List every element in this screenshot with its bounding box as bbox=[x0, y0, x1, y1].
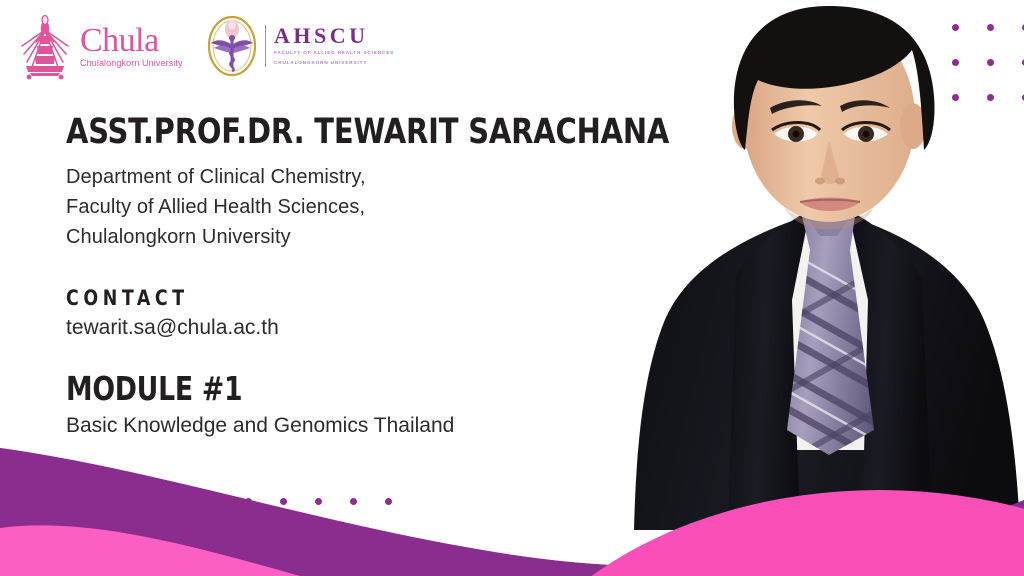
speaker-affiliation: Department of Clinical Chemistry, Facult… bbox=[66, 162, 666, 252]
module-heading: MODULE #1 bbox=[66, 369, 606, 408]
contact-label: CONTACT bbox=[66, 286, 618, 310]
dot-grid-bottom-left bbox=[70, 498, 420, 576]
decorative-dot bbox=[140, 568, 147, 575]
affiliation-line: Faculty of Allied Health Sciences, bbox=[66, 192, 666, 222]
decorative-dot bbox=[350, 533, 357, 540]
chula-logo: Chula Chulalongkorn University bbox=[16, 12, 188, 80]
ahscu-subtitle-line2: CHULALONGKORN UNIVERSITY bbox=[274, 60, 394, 67]
decorative-dot bbox=[385, 568, 392, 575]
decorative-dot bbox=[175, 533, 182, 540]
decorative-dot bbox=[140, 498, 147, 505]
affiliation-line: Department of Clinical Chemistry, bbox=[66, 162, 666, 192]
decorative-dot bbox=[175, 498, 182, 505]
decorative-dot bbox=[70, 533, 77, 540]
decorative-dot bbox=[245, 498, 252, 505]
contact-email[interactable]: tewarit.sa@chula.ac.th bbox=[66, 313, 666, 343]
speaker-info-block: ASST.PROF.DR. TEWARIT SARACHANA Departme… bbox=[66, 112, 666, 441]
decorative-dot bbox=[210, 568, 217, 575]
decorative-dot bbox=[245, 533, 252, 540]
decorative-dot bbox=[385, 533, 392, 540]
decorative-dot bbox=[315, 533, 322, 540]
decorative-dot bbox=[350, 498, 357, 505]
affiliation-line: Chulalongkorn University bbox=[66, 222, 666, 252]
chula-subtitle: Chulalongkorn University bbox=[80, 59, 183, 69]
decorative-dot bbox=[315, 498, 322, 505]
ahscu-subtitle-line1: FACULTY OF ALLIED HEALTH SCIENCES bbox=[274, 50, 394, 57]
decorative-dot bbox=[350, 568, 357, 575]
ahscu-caduceus-emblem bbox=[206, 15, 258, 77]
decorative-dot bbox=[210, 498, 217, 505]
decorative-dot bbox=[175, 568, 182, 575]
decorative-dot bbox=[140, 533, 147, 540]
decorative-dot bbox=[280, 568, 287, 575]
decorative-dot bbox=[280, 498, 287, 505]
decorative-dot bbox=[105, 498, 112, 505]
decorative-dot bbox=[385, 498, 392, 505]
presentation-slide: Chula Chulalongkorn University bbox=[0, 0, 1024, 576]
decorative-dot bbox=[105, 533, 112, 540]
speaker-portrait bbox=[624, 0, 1024, 530]
module-section: MODULE #1 Basic Knowledge and Genomics T… bbox=[66, 369, 666, 441]
decorative-dot bbox=[280, 533, 287, 540]
logo-bar: Chula Chulalongkorn University bbox=[16, 12, 394, 80]
decorative-dot bbox=[315, 568, 322, 575]
chula-wordmark: Chula bbox=[80, 24, 188, 58]
chula-phra-kiao-emblem bbox=[16, 12, 74, 80]
decorative-dot bbox=[70, 498, 77, 505]
decorative-dot bbox=[245, 568, 252, 575]
decorative-dot bbox=[105, 568, 112, 575]
decorative-dot bbox=[210, 533, 217, 540]
speaker-name: ASST.PROF.DR. TEWARIT SARACHANA bbox=[66, 112, 618, 152]
module-subtitle: Basic Knowledge and Genomics Thailand bbox=[66, 411, 666, 441]
contact-section: CONTACT tewarit.sa@chula.ac.th bbox=[66, 286, 666, 343]
ahscu-logo: AHSCU FACULTY OF ALLIED HEALTH SCIENCES … bbox=[206, 15, 394, 77]
ahscu-wordmark: AHSCU bbox=[274, 25, 394, 47]
decorative-dot bbox=[70, 568, 77, 575]
